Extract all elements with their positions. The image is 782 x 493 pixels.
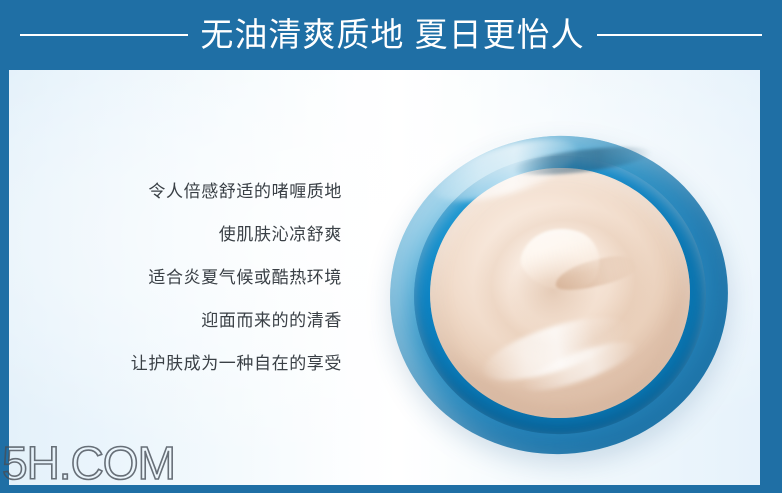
cream-swirl-peak (515, 217, 608, 300)
feature-copy-line: 令人倍感舒适的啫喱质地 (9, 170, 342, 213)
product-jar-image (390, 136, 728, 454)
cream-gloss-highlight-secondary (519, 333, 641, 400)
cream-swirl-inner (483, 220, 637, 367)
feature-copy-line: 适合炎夏气候或酷热环境 (9, 256, 342, 299)
header-rule-left (20, 34, 188, 36)
feature-copy-list: 令人倍感舒适的啫喱质地 使肌肤沁凉舒爽 适合炎夏气候或酷热环境 迎面而来的的清香… (9, 170, 342, 385)
cream-swirl-tail (552, 250, 640, 296)
page-title: 无油清爽质地 夏日更怡人 (200, 15, 584, 55)
cream-swirl-outer (437, 171, 682, 405)
cream-gloss-highlight (477, 305, 633, 393)
header-rule-right (597, 34, 762, 36)
header-band: 无油清爽质地 夏日更怡人 (0, 0, 782, 70)
feature-copy-line: 迎面而来的的清香 (9, 299, 342, 342)
product-detail-poster: 无油清爽质地 夏日更怡人 令人倍感舒适的啫喱质地 使肌肤沁凉舒爽 适合炎夏气候或… (0, 0, 782, 493)
feature-copy-line: 让护肤成为一种自在的享受 (9, 342, 342, 385)
content-panel: 令人倍感舒适的啫喱质地 使肌肤沁凉舒爽 适合炎夏气候或酷热环境 迎面而来的的清香… (9, 70, 760, 485)
feature-copy-line: 使肌肤沁凉舒爽 (9, 213, 342, 256)
